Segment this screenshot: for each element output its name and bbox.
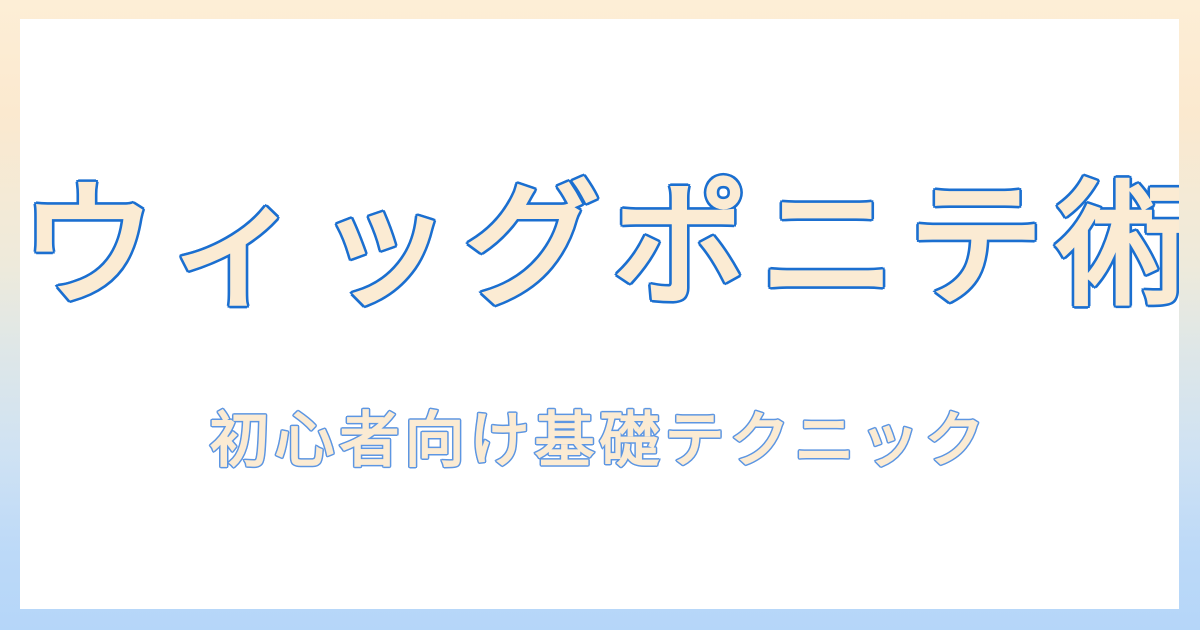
headline-block: ウィッグポニテ術 初心者向け基礎テクニック	[20, 19, 1179, 609]
white-card: ウィッグポニテ術 初心者向け基礎テクニック	[20, 19, 1179, 609]
banner-canvas: ウィッグポニテ術 初心者向け基礎テクニック	[0, 0, 1200, 630]
page-subtitle: 初心者向け基礎テクニック	[20, 411, 1179, 471]
page-title: ウィッグポニテ術	[20, 179, 1179, 315]
